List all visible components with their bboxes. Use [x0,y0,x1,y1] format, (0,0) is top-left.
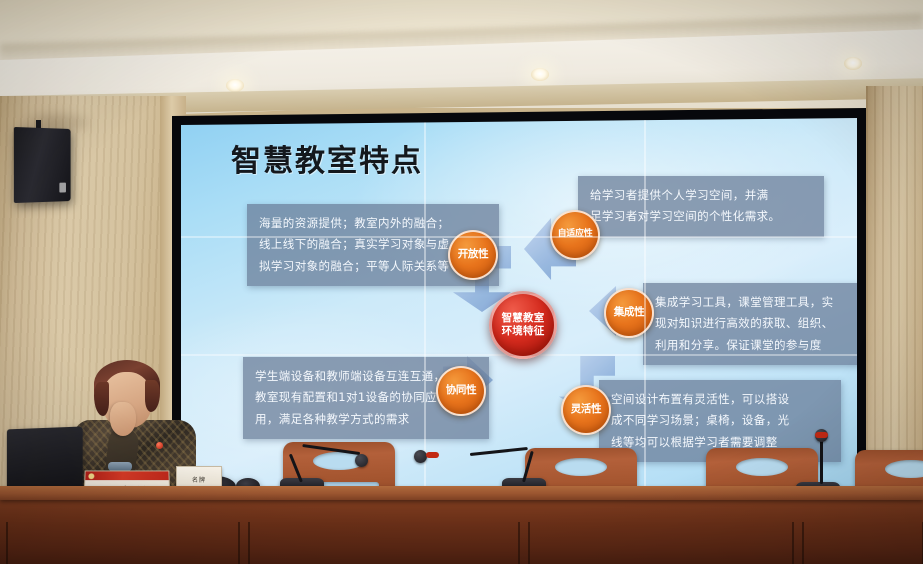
slide-title: 智慧教室特点 [231,136,423,180]
chair-cutout [555,458,607,476]
nameplate-logo-icon [88,473,94,479]
microphone-indicator [815,432,828,438]
downlight-icon [844,57,862,70]
textbox-line: 集成学习工具，课堂管理工具，实 [655,292,857,313]
nameplate-secondary-text: 名牌 [177,475,221,484]
laptop [7,426,83,491]
slide-textbox-integration: 集成学习工具，课堂管理工具，实 现对知识进行高效的获取、组织、 利用和分享。保证… [643,283,857,365]
panel-seam-vertical [424,118,426,500]
desk-front-panel [528,522,794,564]
microphone-stem [820,436,823,484]
badge-adaptive: 自适应性 [550,210,600,260]
person-hand [110,402,136,436]
center-badge-smart-classroom: 智慧教室 环境特征 [489,291,557,359]
downlight-icon [226,79,244,92]
photo-scene: 智慧教室特点 海量的资源提供；教室内外的融合； 线上线下的融合；真实学习对象与虚… [0,0,923,564]
desk-front-panel [6,522,240,564]
person-brooch [156,442,163,449]
badge-integration: 集成性 [604,288,654,338]
microphone-head [414,450,427,463]
desk-front-panel [248,522,520,564]
person-hair-side [94,382,109,416]
wall-speaker [14,127,71,203]
center-badge-line2: 环境特征 [502,325,545,338]
textbox-line: 利用和分享。保证课堂的参与度 [655,335,857,356]
panel-seam-vertical [644,118,646,500]
badge-collaboration: 协同性 [436,366,486,416]
textbox-line: 给学习者提供个人学习空间，并满 [590,185,812,206]
textbox-line: 用，满足各种教学方式的需求 [255,409,477,430]
badge-flexibility: 灵活性 [561,385,611,435]
desk-front-panel [802,522,923,564]
person-hair-side [145,380,160,412]
center-badge-line1: 智慧教室 [502,312,545,325]
downlight-icon [531,68,549,81]
panel-seam-horizontal [181,236,857,238]
nameplate-header-bar [85,471,168,480]
textbox-line: 海量的资源提供；教室内外的融合； [259,213,487,234]
microphone-indicator [426,452,439,458]
chair-cutout [736,458,788,476]
textbox-line: 现对知识进行高效的获取、组织、 [655,313,857,334]
desk-top-edge [0,486,923,500]
microphone-head [355,454,368,467]
slide-textbox-adaptive: 给学习者提供个人学习空间，并满 足学习者对学习空间的个性化需求。 [578,176,824,237]
textbox-line: 足学习者对学习空间的个性化需求。 [590,206,812,227]
